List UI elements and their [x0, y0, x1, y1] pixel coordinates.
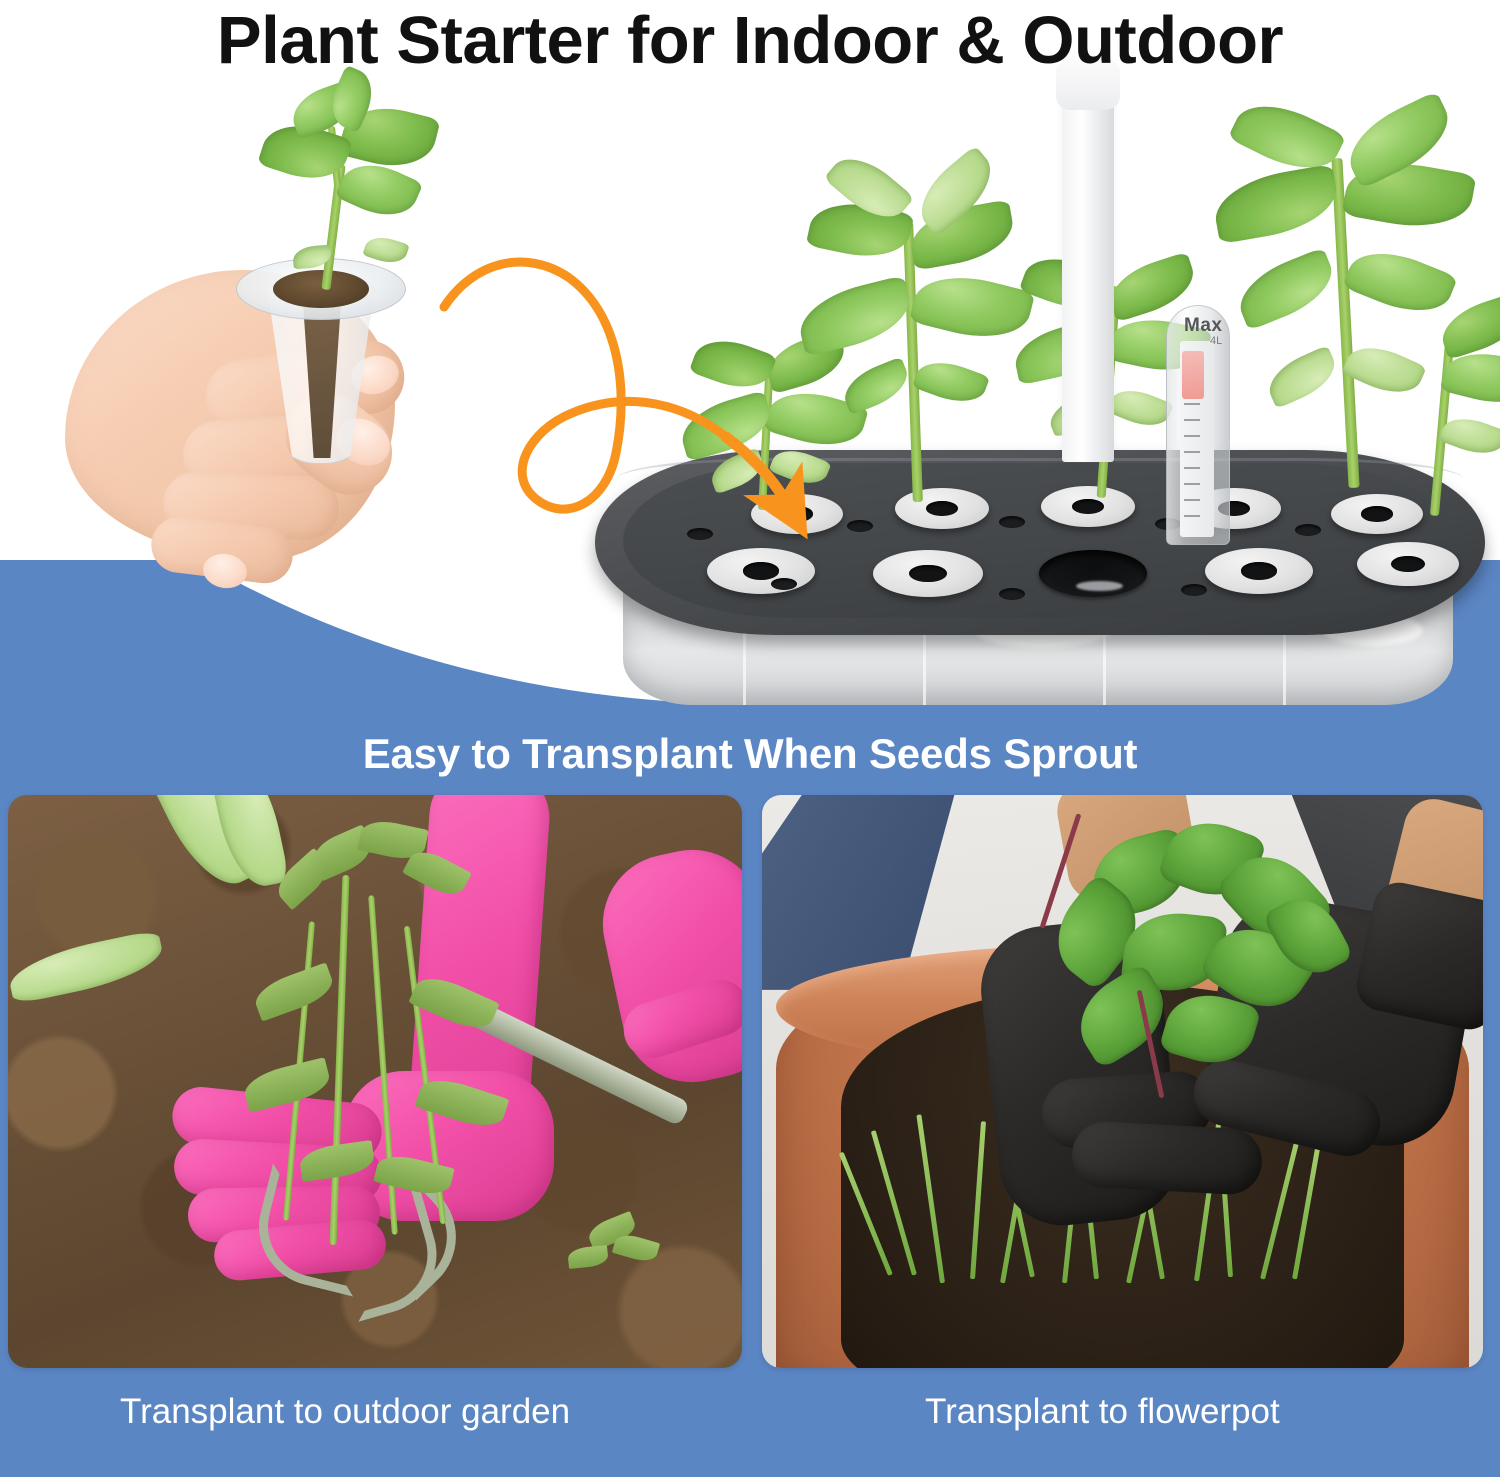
photo-transplant-outdoor-garden: [8, 795, 742, 1368]
plant-leaf: [1230, 247, 1341, 331]
meter-tick: [1184, 403, 1200, 405]
meter-unit-label: 4L: [1210, 335, 1222, 347]
pod-collar: [1357, 542, 1459, 586]
vent-hole: [1181, 584, 1207, 596]
product-infographic: Max 4L: [0, 0, 1500, 1477]
photo-transplant-flowerpot: [762, 795, 1483, 1368]
curved-orange-arrow: [440, 255, 1060, 595]
seedling-foliage: [241, 1057, 333, 1113]
black-glove-finger: [1070, 1120, 1263, 1196]
caption-flowerpot: Transplant to flowerpot: [925, 1392, 1280, 1432]
seedling-foliage: [298, 1140, 376, 1182]
meter-tick: [1184, 515, 1200, 517]
plant-leaf: [1261, 345, 1342, 409]
meter-scale: [1180, 341, 1214, 537]
section-heading: Easy to Transplant When Seeds Sprout: [0, 730, 1500, 778]
water-level-meter: Max 4L: [1166, 305, 1230, 545]
garden-seedling: [240, 805, 530, 1255]
meter-float-indicator: [1182, 351, 1204, 399]
plant-leaf: [1106, 382, 1174, 434]
page-title: Plant Starter for Indoor & Outdoor: [0, 2, 1500, 79]
meter-max-label: Max: [1184, 315, 1222, 337]
plant-leaf: [1435, 292, 1500, 360]
meter-tick: [1184, 467, 1200, 469]
seedling-stem: [330, 875, 350, 1245]
meter-tick: [1184, 451, 1200, 453]
seedling-leaf: [362, 232, 409, 268]
strawberry-plant: [972, 809, 1392, 1109]
caption-outdoor-garden: Transplant to outdoor garden: [120, 1392, 570, 1432]
meter-tick: [1184, 499, 1200, 501]
meter-tick: [1184, 435, 1200, 437]
plant-leaf: [1210, 164, 1343, 245]
plant-leaf: [1438, 410, 1500, 461]
grow-light-pole: [1062, 62, 1114, 462]
pod-collar: [1205, 548, 1313, 594]
meter-tick: [1184, 483, 1200, 485]
seedling-foliage: [251, 962, 338, 1021]
vent-hole: [1295, 524, 1321, 536]
basil-plant: [1382, 300, 1500, 530]
meter-tick: [1184, 419, 1200, 421]
